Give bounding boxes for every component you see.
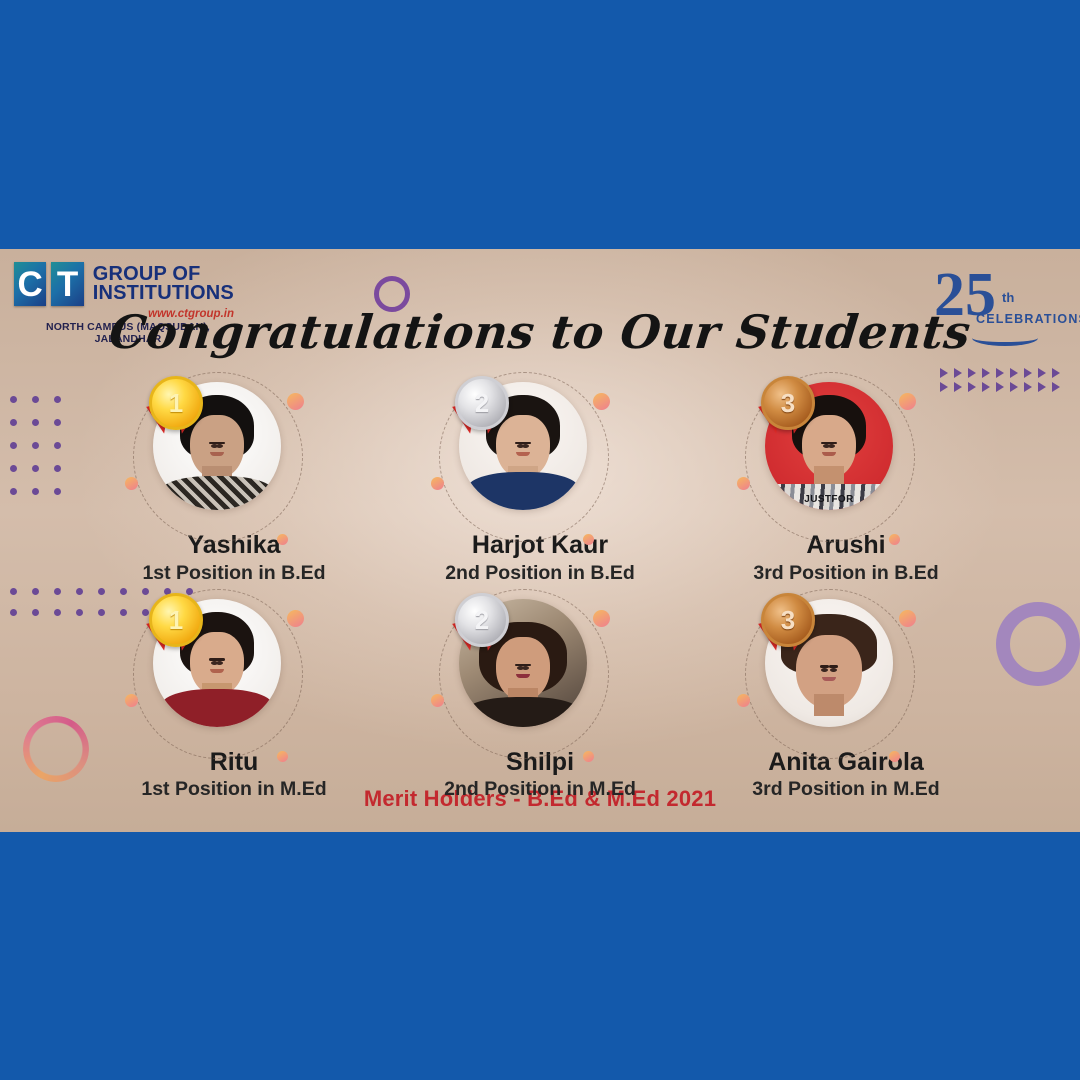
student-card[interactable]: 1 Ritu 1st Position in M.Ed — [119, 599, 349, 802]
student-position: 2nd Position in B.Ed — [425, 562, 655, 585]
student-position: 3rd Position in M.Ed — [731, 778, 961, 801]
student-photo-wrap: 2 — [455, 382, 625, 522]
student-position: 2nd Position in M.Ed — [425, 778, 655, 801]
medal-disc-icon: 2 — [455, 593, 509, 647]
student-card[interactable]: 2 Harjot Kaur 2nd Position in B.Ed — [425, 382, 655, 585]
students-row-med: 1 Ritu 1st Position in M.Ed — [0, 599, 1080, 802]
medal-badge: 1 — [143, 374, 203, 442]
student-photo-wrap: 2 — [455, 599, 625, 739]
medal-badge: 1 — [143, 591, 203, 659]
medal-badge: 2 — [449, 374, 509, 442]
medal-disc-icon: 2 — [455, 376, 509, 430]
logo-mark: C T GROUP OF INSTITUTIONS — [14, 262, 234, 306]
student-card[interactable]: JUSTFOR 3 Arushi 3rd Position in B.Ed — [731, 382, 961, 585]
medal-badge: 2 — [449, 591, 509, 659]
anniversary-suffix: th — [1002, 290, 1014, 305]
student-position: 3rd Position in B.Ed — [731, 562, 961, 585]
logo-letter-t: T — [51, 262, 83, 306]
student-position: 1st Position in M.Ed — [119, 778, 349, 801]
student-card[interactable]: 2 Shilpi 2nd Position in M.Ed — [425, 599, 655, 802]
student-photo-wrap: 3 — [761, 599, 931, 739]
students-row-bed: 1 Yashika 1st Position in B.Ed — [0, 382, 1080, 585]
medal-badge: 3 — [755, 374, 815, 442]
top-blue-band — [0, 0, 1080, 249]
anniversary-swoosh-icon — [972, 330, 1038, 346]
medal-disc-icon: 3 — [761, 376, 815, 430]
anniversary-logo: 25 th CELEBRATIONS — [930, 268, 1070, 344]
bottom-blue-band — [0, 832, 1080, 1080]
page-title: Congratulations to Our Students — [0, 305, 1080, 359]
student-photo-wrap: JUSTFOR 3 — [761, 382, 931, 522]
logo-letter-c: C — [14, 262, 46, 306]
students-grid: 1 Yashika 1st Position in B.Ed — [0, 382, 1080, 802]
medal-badge: 3 — [755, 591, 815, 659]
anniversary-word: CELEBRATIONS — [976, 312, 1080, 326]
student-card[interactable]: 3 Anita Gairola 3rd Position in M.Ed — [731, 599, 961, 802]
medal-disc-icon: 3 — [761, 593, 815, 647]
student-position: 1st Position in B.Ed — [119, 562, 349, 585]
student-photo-wrap: 1 — [149, 599, 319, 739]
student-photo-wrap: 1 — [149, 382, 319, 522]
student-card[interactable]: 1 Yashika 1st Position in B.Ed — [119, 382, 349, 585]
medal-disc-icon: 1 — [149, 376, 203, 430]
medal-disc-icon: 1 — [149, 593, 203, 647]
shirt-text: JUSTFOR — [804, 494, 853, 505]
poster-canvas: Merit Holders - B.Ed & M.Ed 2021 C T GRO… — [0, 0, 1080, 1080]
logo-line-2: INSTITUTIONS — [93, 284, 234, 303]
logo-wordmark: GROUP OF INSTITUTIONS — [93, 262, 234, 306]
